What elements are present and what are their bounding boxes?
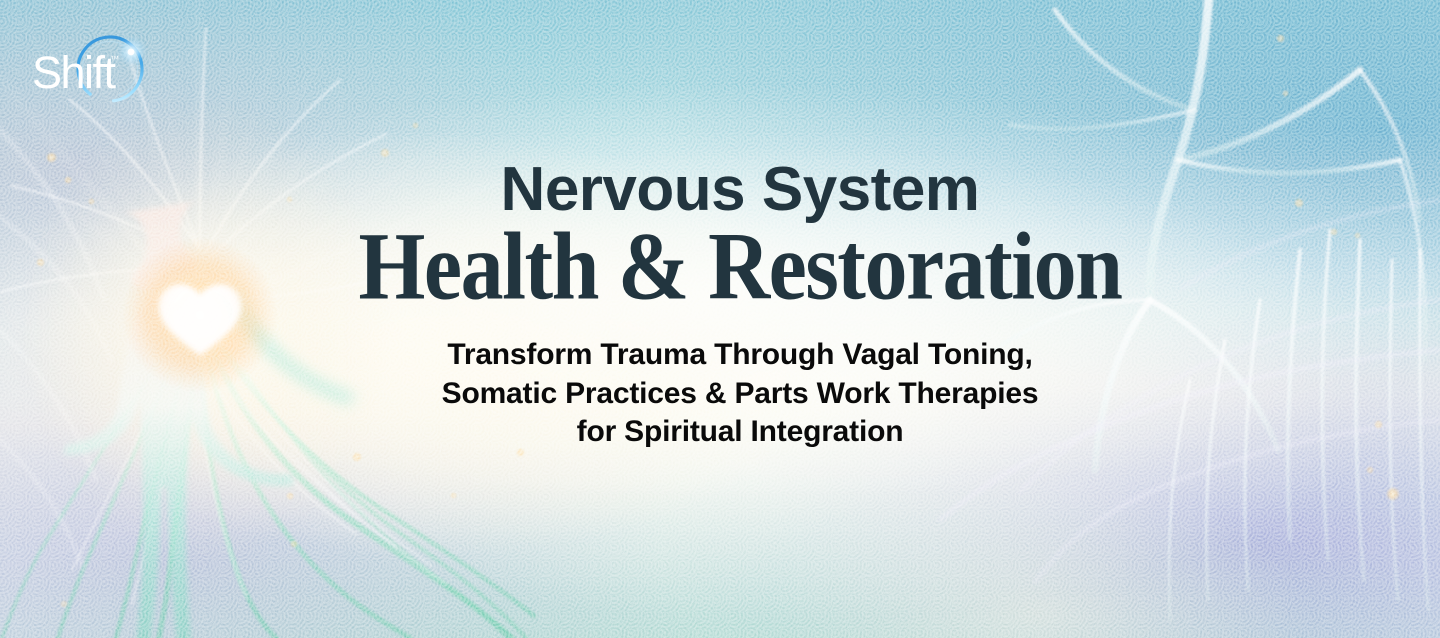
- page-title-line-2: Health & Restoration: [330, 217, 1150, 315]
- light-ray: [196, 0, 249, 315]
- light-ray: [196, 0, 200, 315]
- headline-block: Nervous System Health & Restoration Tran…: [330, 160, 1150, 452]
- subtitle-line-2: Somatic Practices & Parts Work Therapies: [330, 375, 1150, 413]
- subtitle-line-3: for Spiritual Integration: [330, 413, 1150, 451]
- promo-banner: Shift ™ Nervous System Health & Restorat…: [0, 0, 1440, 638]
- light-ray: [196, 0, 307, 315]
- subtitle-line-1: Transform Trauma Through Vagal Toning,: [330, 336, 1150, 374]
- trademark-mark: ™: [110, 54, 119, 64]
- light-ray: [0, 87, 199, 317]
- shift-wordmark: Shift: [32, 47, 117, 98]
- page-subtitle: Transform Trauma Through Vagal Toning, S…: [330, 336, 1150, 451]
- shift-logo[interactable]: Shift ™: [26, 26, 158, 112]
- light-ray: [0, 173, 197, 316]
